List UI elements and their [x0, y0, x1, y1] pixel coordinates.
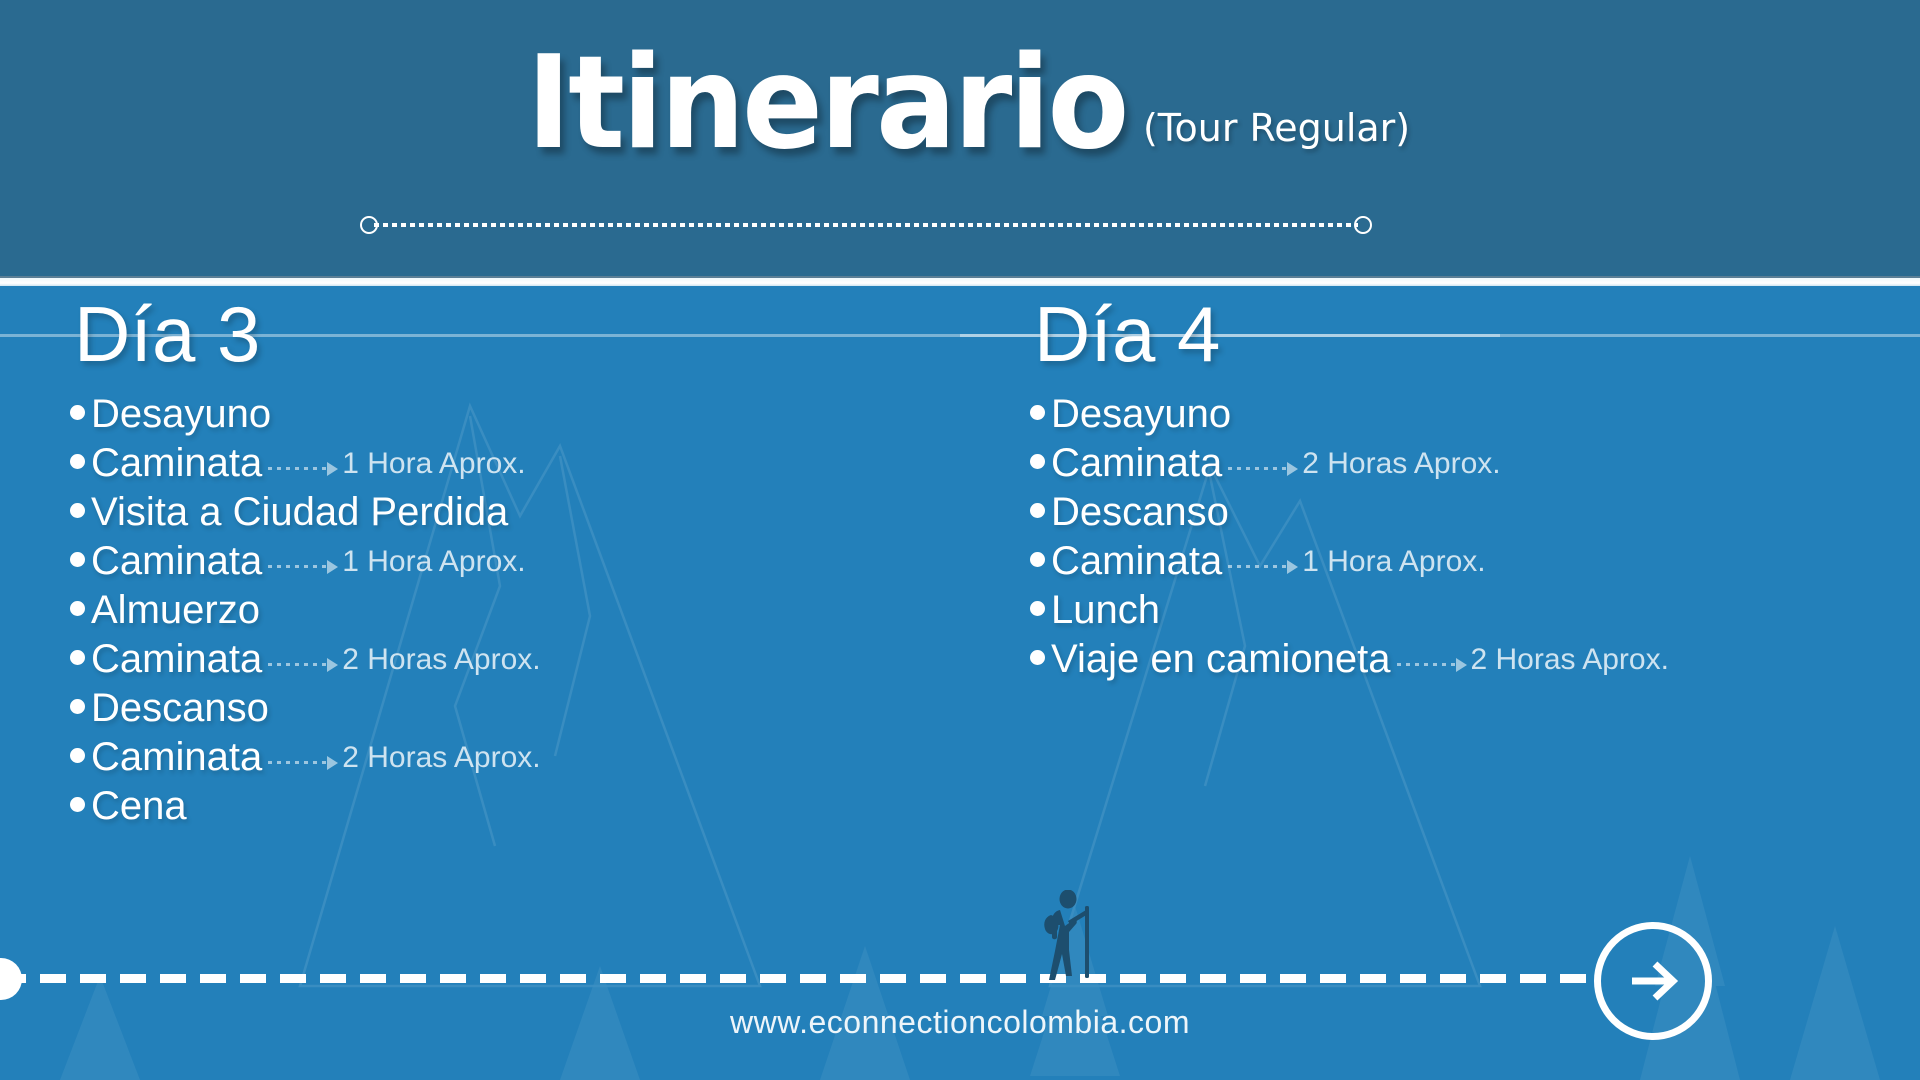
leader-arrow-icon	[268, 658, 338, 672]
next-slide-button[interactable]	[1594, 922, 1712, 1040]
list-item[interactable]: Caminata 1 Hora Aprox.	[1030, 539, 1920, 588]
list-item[interactable]: Caminata 2 Horas Aprox.	[70, 637, 970, 686]
list-item[interactable]: Descanso	[1030, 490, 1920, 539]
item-duration: 2 Horas Aprox.	[1302, 442, 1500, 486]
list-item[interactable]: Descanso	[70, 686, 970, 735]
bullet-icon	[1030, 650, 1045, 665]
item-label: Descanso	[91, 686, 269, 730]
leader-arrow-icon	[268, 756, 338, 770]
item-duration: 1 Hora Aprox.	[1302, 540, 1485, 584]
list-item[interactable]: Visita a Ciudad Perdida	[70, 490, 970, 539]
header-divider	[0, 276, 1920, 286]
title-dotted-rule	[360, 214, 1372, 236]
bullet-icon	[1030, 552, 1045, 567]
bullet-icon	[70, 699, 85, 714]
item-label: Caminata	[91, 637, 262, 681]
bullet-icon	[1030, 601, 1045, 616]
leader-arrow-icon	[1228, 560, 1298, 574]
item-label: Lunch	[1051, 588, 1160, 632]
day-column-4: Día 4 Desayuno Caminata 2 Horas Aprox.	[1020, 286, 1920, 382]
arrow-right-icon	[1622, 950, 1684, 1012]
bullet-icon	[70, 503, 85, 518]
rule-dots	[374, 223, 1358, 227]
header-band: Itinerario(Tour Regular)	[0, 0, 1920, 276]
item-label: Desayuno	[1051, 392, 1231, 436]
day-4-list: Desayuno Caminata 2 Horas Aprox. Descans…	[1030, 392, 1920, 686]
list-item[interactable]: Desayuno	[70, 392, 970, 441]
bullet-icon	[70, 454, 85, 469]
leader-arrow-icon	[268, 560, 338, 574]
bullet-icon	[70, 552, 85, 567]
item-label: Almuerzo	[91, 588, 260, 632]
list-item[interactable]: Desayuno	[1030, 392, 1920, 441]
day-3-title: Día 3	[74, 286, 260, 382]
item-duration: 2 Horas Aprox.	[342, 736, 540, 780]
bullet-icon	[1030, 503, 1045, 518]
item-duration: 2 Horas Aprox.	[1471, 638, 1669, 682]
bullet-icon	[70, 650, 85, 665]
bullet-icon	[1030, 405, 1045, 420]
bullet-icon	[70, 405, 85, 420]
page-subtitle: (Tour Regular)	[1143, 106, 1410, 150]
item-duration: 2 Horas Aprox.	[342, 638, 540, 682]
day-3-list: Desayuno Caminata 1 Hora Aprox. Visita a…	[70, 392, 970, 833]
day-3-header: Día 3	[60, 286, 960, 382]
item-label: Caminata	[91, 735, 262, 779]
item-label: Caminata	[1051, 441, 1222, 485]
item-label: Cena	[91, 784, 187, 828]
day-column-3: Día 3 Desayuno Caminata 1 Hora Aprox.	[60, 286, 960, 382]
bullet-icon	[70, 797, 85, 812]
bullet-icon	[1030, 454, 1045, 469]
page-title: Itinerario	[526, 40, 1126, 168]
item-label: Viaje en camioneta	[1051, 637, 1391, 681]
title-block: Itinerario(Tour Regular)	[0, 40, 1920, 168]
item-label: Visita a Ciudad Perdida	[91, 490, 508, 534]
bullet-icon	[70, 748, 85, 763]
list-item[interactable]: Cena	[70, 784, 970, 833]
leader-arrow-icon	[1397, 658, 1467, 672]
item-label: Desayuno	[91, 392, 271, 436]
list-item[interactable]: Viaje en camioneta 2 Horas Aprox.	[1030, 637, 1920, 686]
rule-endpoint-right	[1354, 216, 1372, 234]
item-duration: 1 Hora Aprox.	[342, 442, 525, 486]
leader-arrow-icon	[268, 462, 338, 476]
item-label: Descanso	[1051, 490, 1229, 534]
list-item[interactable]: Lunch	[1030, 588, 1920, 637]
list-item[interactable]: Caminata 1 Hora Aprox.	[70, 441, 970, 490]
list-item[interactable]: Almuerzo	[70, 588, 970, 637]
list-item[interactable]: Caminata 1 Hora Aprox.	[70, 539, 970, 588]
item-label: Caminata	[1051, 539, 1222, 583]
list-item[interactable]: Caminata 2 Horas Aprox.	[70, 735, 970, 784]
item-label: Caminata	[91, 441, 262, 485]
leader-arrow-icon	[1228, 462, 1298, 476]
item-label: Caminata	[91, 539, 262, 583]
bullet-icon	[70, 601, 85, 616]
itinerary-slide: Itinerario(Tour Regular)	[0, 0, 1920, 1080]
day-4-header: Día 4	[1020, 286, 1920, 382]
item-duration: 1 Hora Aprox.	[342, 540, 525, 584]
day-4-title: Día 4	[1034, 286, 1220, 382]
list-item[interactable]: Caminata 2 Horas Aprox.	[1030, 441, 1920, 490]
